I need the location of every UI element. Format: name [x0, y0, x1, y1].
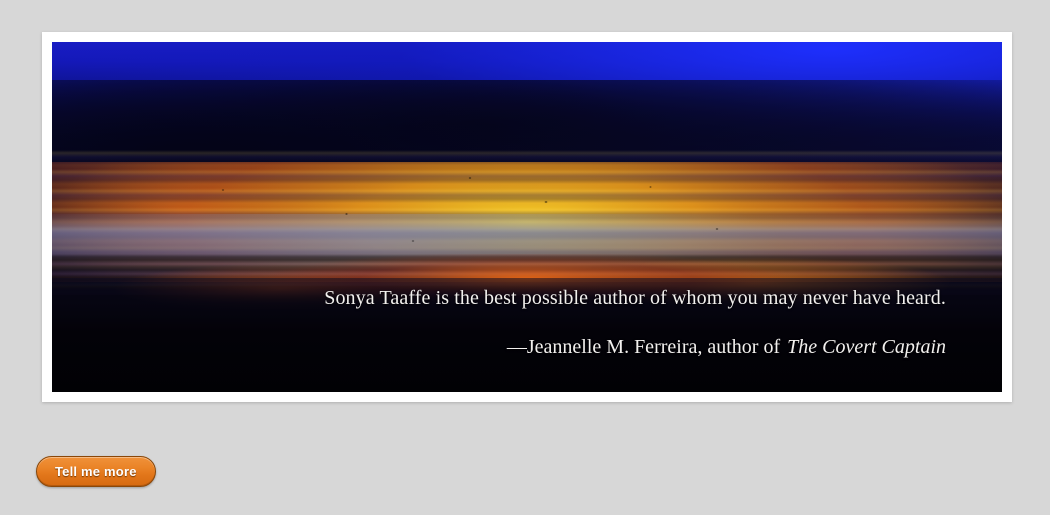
- quote-attribution: —Jeannelle M. Ferreira, author ofThe Cov…: [186, 335, 946, 360]
- banner-card: Sonya Taaffe is the best possible author…: [42, 32, 1012, 402]
- tell-me-more-button[interactable]: Tell me more: [36, 456, 156, 487]
- sky-golden-glow-layer: [52, 162, 1002, 282]
- sunset-photograph: Sonya Taaffe is the best possible author…: [52, 42, 1002, 392]
- sky-cloud-striation-layer: [52, 150, 1002, 295]
- sky-upper-blue-layer: [52, 42, 1002, 177]
- sky-cool-blue-band-layer: [52, 214, 1002, 286]
- quote-text: Sonya Taaffe is the best possible author…: [186, 286, 946, 311]
- sky-dark-cloud-layer: [52, 80, 1002, 210]
- bird-speck-layer: [52, 142, 1002, 292]
- quote-block: Sonya Taaffe is the best possible author…: [186, 286, 946, 360]
- quote-attribution-author: —Jeannelle M. Ferreira, author of: [507, 336, 780, 358]
- quote-book-title: The Covert Captain: [780, 336, 946, 358]
